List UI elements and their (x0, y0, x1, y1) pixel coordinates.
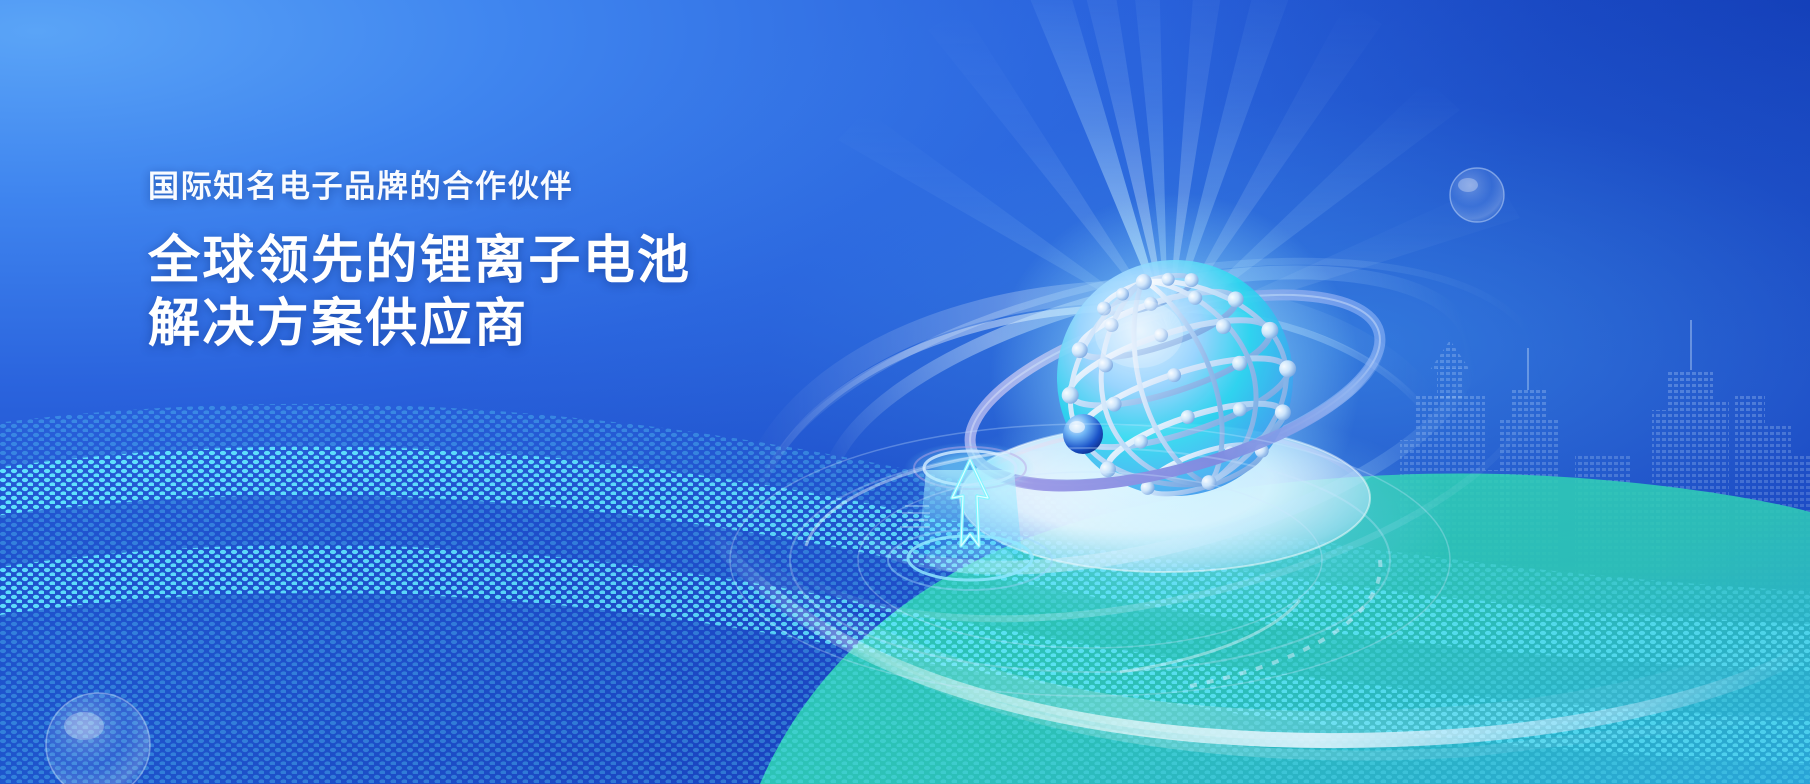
hero-banner: 国际知名电子品牌的合作伙伴 全球领先的锂离子电池 解决方案供应商 (0, 0, 1810, 784)
banner-kicker: 国际知名电子品牌的合作伙伴 (148, 166, 908, 208)
banner-headline: 全球领先的锂离子电池 解决方案供应商 (148, 230, 908, 357)
bubble-top-right (1450, 168, 1504, 222)
headline-line-2: 解决方案供应商 (148, 293, 908, 356)
headline-line-1: 全球领先的锂离子电池 (148, 230, 908, 293)
bubbles (0, 0, 1810, 784)
banner-copy: 国际知名电子品牌的合作伙伴 全球领先的锂离子电池 解决方案供应商 (148, 166, 908, 357)
bubble-bottom-left (46, 693, 150, 784)
